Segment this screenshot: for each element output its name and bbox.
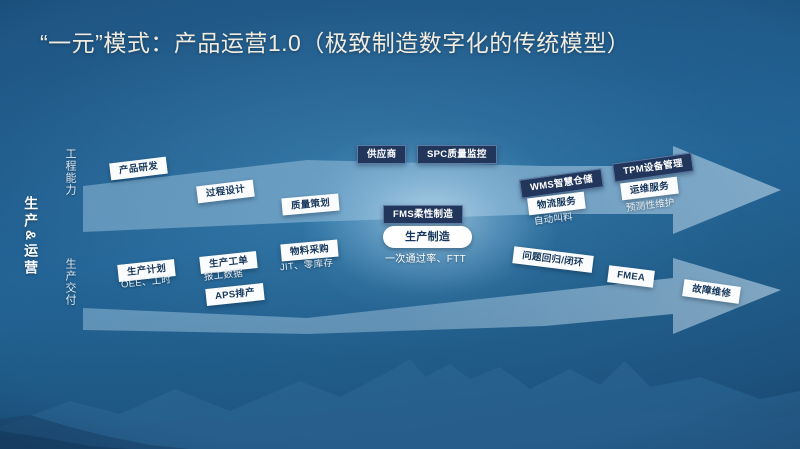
chip-spc[interactable]: SPC质量监控 (417, 145, 497, 164)
side-label-delivery: 生产交付 (60, 258, 76, 306)
slide-canvas: “一元”模式：产品运营1.0（极致制造数字化的传统模型） (0, 0, 800, 449)
side-label-engineering: 工程能力 (60, 148, 76, 196)
chip-supplier[interactable]: 供应商 (357, 145, 406, 164)
chip-fms[interactable]: FMS柔性制造 (383, 205, 463, 224)
page-title: “一元”模式：产品运营1.0（极致制造数字化的传统模型） (40, 24, 630, 58)
chip-ftt-metric: 一次通过率、FTT (382, 252, 469, 267)
side-label-main: 生产&运营 (22, 196, 39, 277)
chip-core-manufacturing[interactable]: 生产制造 (383, 226, 472, 248)
